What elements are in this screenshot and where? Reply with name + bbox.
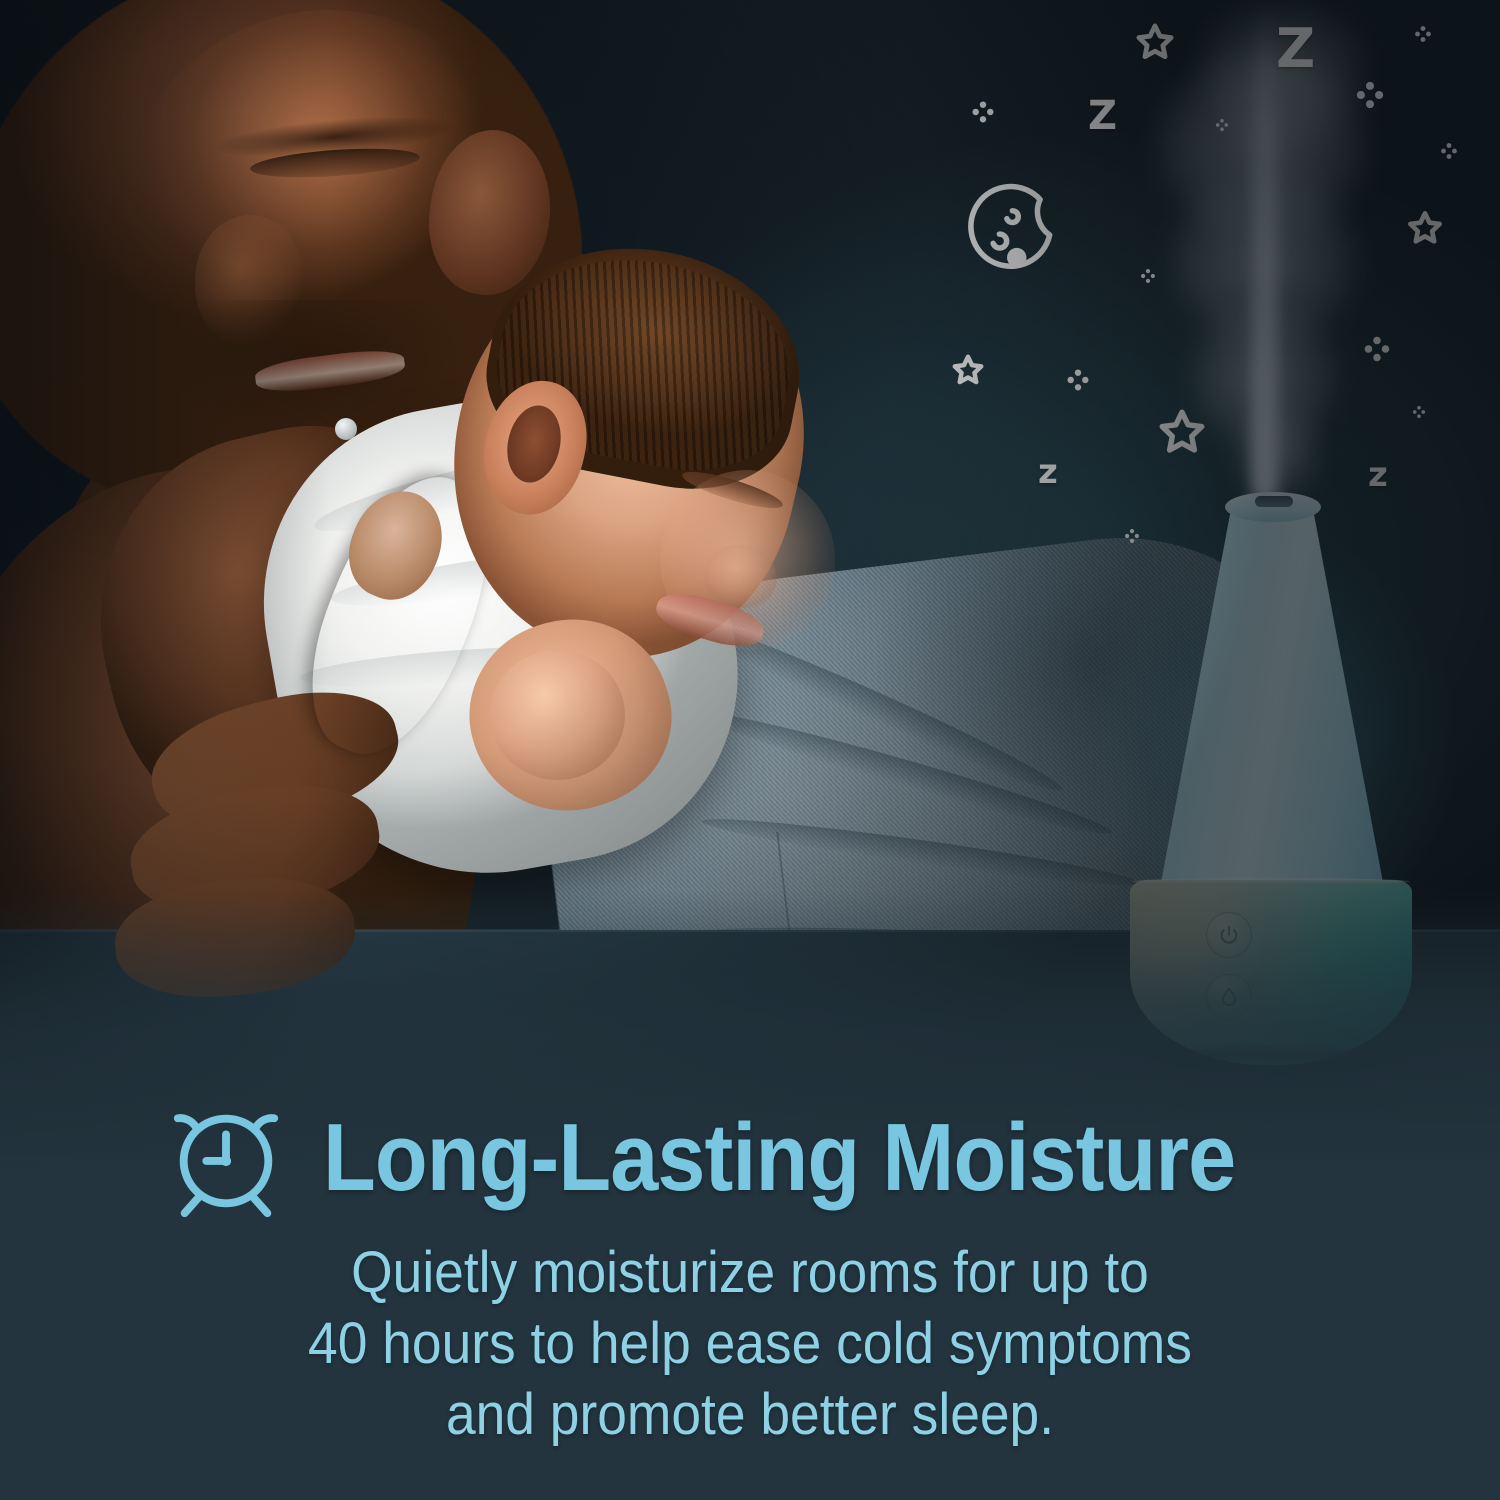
body-line: and promote better sleep. xyxy=(60,1380,1440,1451)
body-line: 40 hours to help ease cold symptoms xyxy=(60,1309,1440,1380)
marketing-image: pure enrichment xyxy=(0,0,1500,1500)
alarm-clock-icon xyxy=(163,1095,289,1221)
page-title: Long-Lasting Moisture xyxy=(323,1103,1235,1213)
body-line: Quietly moisturize rooms for up to xyxy=(60,1238,1440,1309)
headline-row: Long-Lasting Moisture xyxy=(0,1095,1500,1221)
body-copy: Quietly moisturize rooms for up to 40 ho… xyxy=(0,1238,1500,1450)
lifestyle-photo: pure enrichment xyxy=(0,0,1500,1180)
